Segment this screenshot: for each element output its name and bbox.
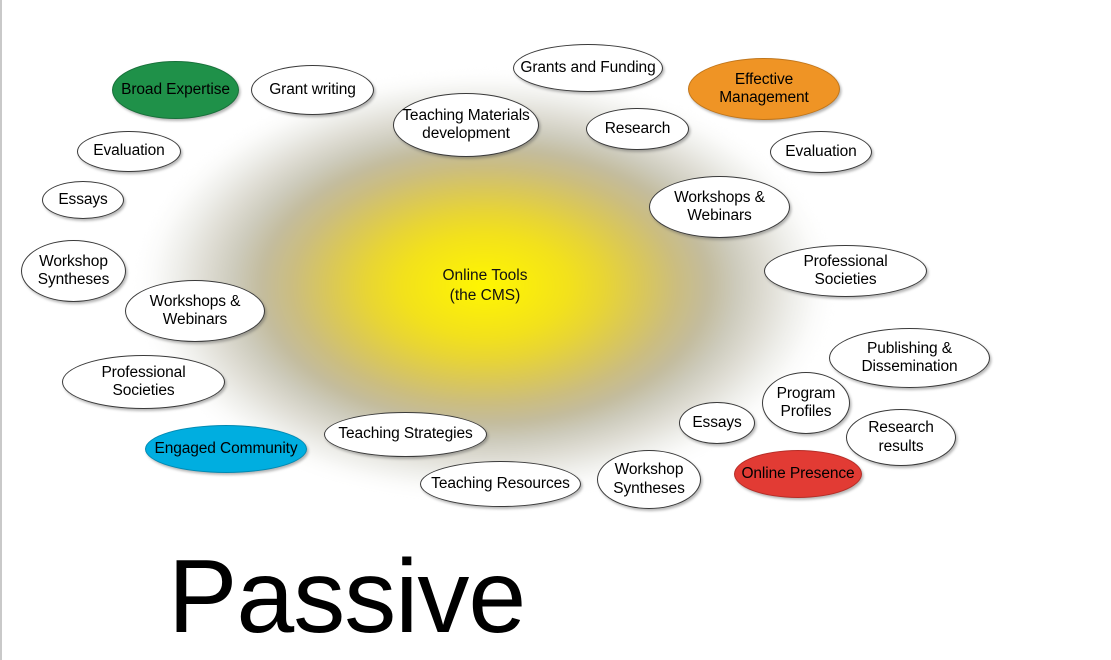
slide-left-border	[0, 0, 2, 660]
concept-node[interactable]: Grants and Funding	[513, 44, 663, 92]
concept-node[interactable]: Teaching Resources	[420, 461, 581, 507]
concept-node-label: Teaching Materials development	[396, 107, 535, 144]
concept-node[interactable]: Evaluation	[77, 131, 181, 172]
concept-node[interactable]: Essays	[42, 181, 124, 219]
concept-node-label: Professional Societies	[765, 253, 926, 290]
concept-node[interactable]: Professional Societies	[764, 245, 927, 297]
concept-node[interactable]: Teaching Materials development	[393, 93, 539, 157]
concept-node-label: Essays	[686, 414, 747, 432]
concept-node-label: Workshops & Webinars	[668, 189, 771, 226]
concept-node-label: Online Presence	[735, 465, 860, 483]
concept-node[interactable]: Workshop Syntheses	[597, 450, 701, 509]
concept-node-label: Professional Societies	[63, 364, 224, 401]
concept-node-label: Grant writing	[263, 81, 362, 99]
concept-node-label: Program Profiles	[771, 385, 842, 422]
concept-node[interactable]: Professional Societies	[62, 355, 225, 409]
concept-node[interactable]: Workshops & Webinars	[125, 280, 265, 342]
concept-node[interactable]: Engaged Community	[145, 425, 307, 473]
concept-node[interactable]: Workshop Syntheses	[21, 240, 126, 302]
concept-node-label: Essays	[52, 191, 113, 209]
concept-node-label: Teaching Strategies	[332, 425, 478, 443]
page-title: Passive	[168, 545, 525, 649]
concept-node[interactable]: Research	[586, 108, 689, 150]
concept-node-label: Workshop Syntheses	[607, 461, 690, 498]
concept-node[interactable]: Teaching Strategies	[324, 412, 487, 457]
hub-label-text: Online Tools (the CMS)	[442, 266, 527, 306]
hub-label: Online Tools (the CMS)	[405, 255, 565, 317]
concept-node[interactable]: Workshops & Webinars	[649, 176, 790, 238]
concept-node-label: Research	[599, 120, 677, 138]
concept-node-label: Evaluation	[87, 142, 170, 160]
concept-node[interactable]: Evaluation	[770, 131, 872, 173]
concept-node[interactable]: Grant writing	[251, 65, 374, 115]
concept-node-label: Engaged Community	[148, 440, 303, 458]
concept-node[interactable]: Online Presence	[734, 450, 862, 498]
concept-node-label: Workshop Syntheses	[32, 253, 115, 290]
concept-node[interactable]: Research results	[846, 409, 956, 466]
concept-node[interactable]: Essays	[679, 402, 755, 444]
concept-node[interactable]: Program Profiles	[762, 372, 850, 434]
concept-node[interactable]: Publishing & Dissemination	[829, 328, 990, 388]
concept-node-label: Evaluation	[779, 143, 862, 161]
concept-node-label: Research results	[862, 419, 940, 456]
concept-node-label: Broad Expertise	[115, 81, 236, 99]
concept-node-label: Workshops & Webinars	[144, 293, 247, 330]
concept-node-label: Publishing & Dissemination	[855, 340, 963, 377]
concept-node-label: Grants and Funding	[514, 59, 661, 77]
concept-node-label: Effective Management	[713, 71, 814, 108]
slide-canvas: Broad ExpertiseGrant writingGrants and F…	[0, 0, 1111, 660]
concept-node[interactable]: Broad Expertise	[112, 61, 239, 119]
concept-node[interactable]: Effective Management	[688, 58, 840, 120]
concept-node-label: Teaching Resources	[425, 475, 576, 493]
